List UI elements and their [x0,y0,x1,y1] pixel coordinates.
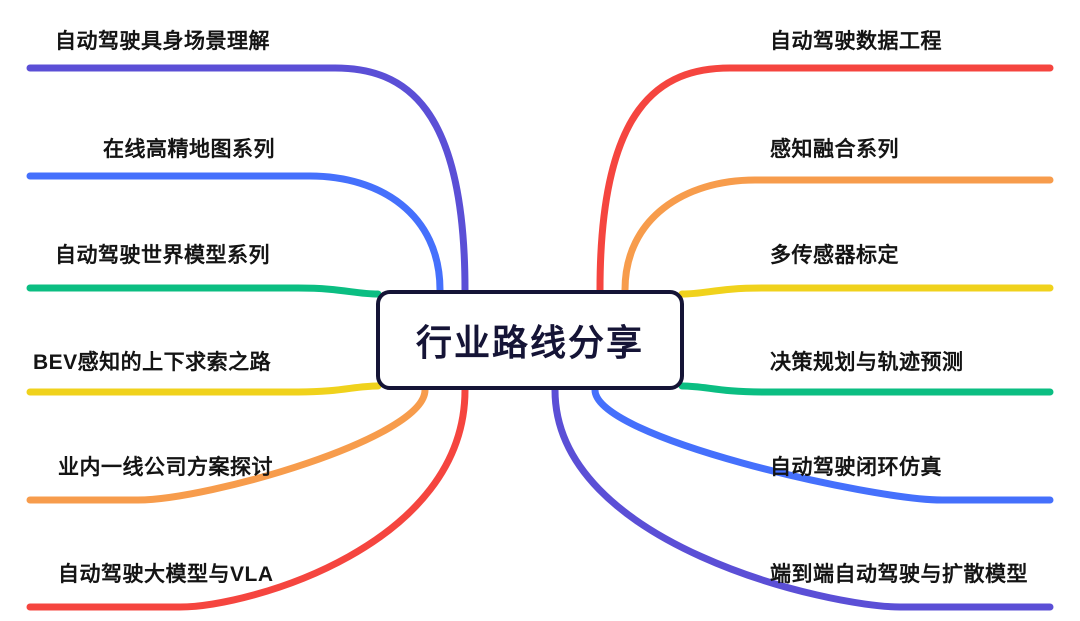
branch-path [682,288,1050,294]
branch-path [30,386,378,392]
center-node-label: 行业路线分享 [416,314,644,366]
branch-path [625,180,1050,290]
branch-label[interactable]: 自动驾驶闭环仿真 [770,457,942,478]
center-node[interactable]: 行业路线分享 [376,290,684,390]
branch-label[interactable]: 在线高精地图系列 [103,139,275,160]
branch-path [30,288,378,294]
branch-path [595,390,1050,500]
branch-label[interactable]: 自动驾驶具身场景理解 [55,31,270,52]
branch-label[interactable]: 业内一线公司方案探讨 [58,457,273,478]
branch-path [682,386,1050,392]
branch-label[interactable]: 自动驾驶世界模型系列 [55,245,270,266]
branch-path [30,390,425,500]
branch-label[interactable]: 自动驾驶大模型与VLA [58,564,274,585]
branch-path [30,176,440,290]
branch-label[interactable]: BEV感知的上下求索之路 [33,352,271,373]
mindmap-canvas: 行业路线分享 自动驾驶具身场景理解在线高精地图系列自动驾驶世界模型系列BEV感知… [0,0,1080,621]
branch-label[interactable]: 自动驾驶数据工程 [770,31,942,52]
branch-label[interactable]: 端到端自动驾驶与扩散模型 [770,564,1028,585]
branch-label[interactable]: 决策规划与轨迹预测 [770,352,964,373]
branch-label[interactable]: 多传感器标定 [770,245,899,266]
branch-label[interactable]: 感知融合系列 [770,139,899,160]
